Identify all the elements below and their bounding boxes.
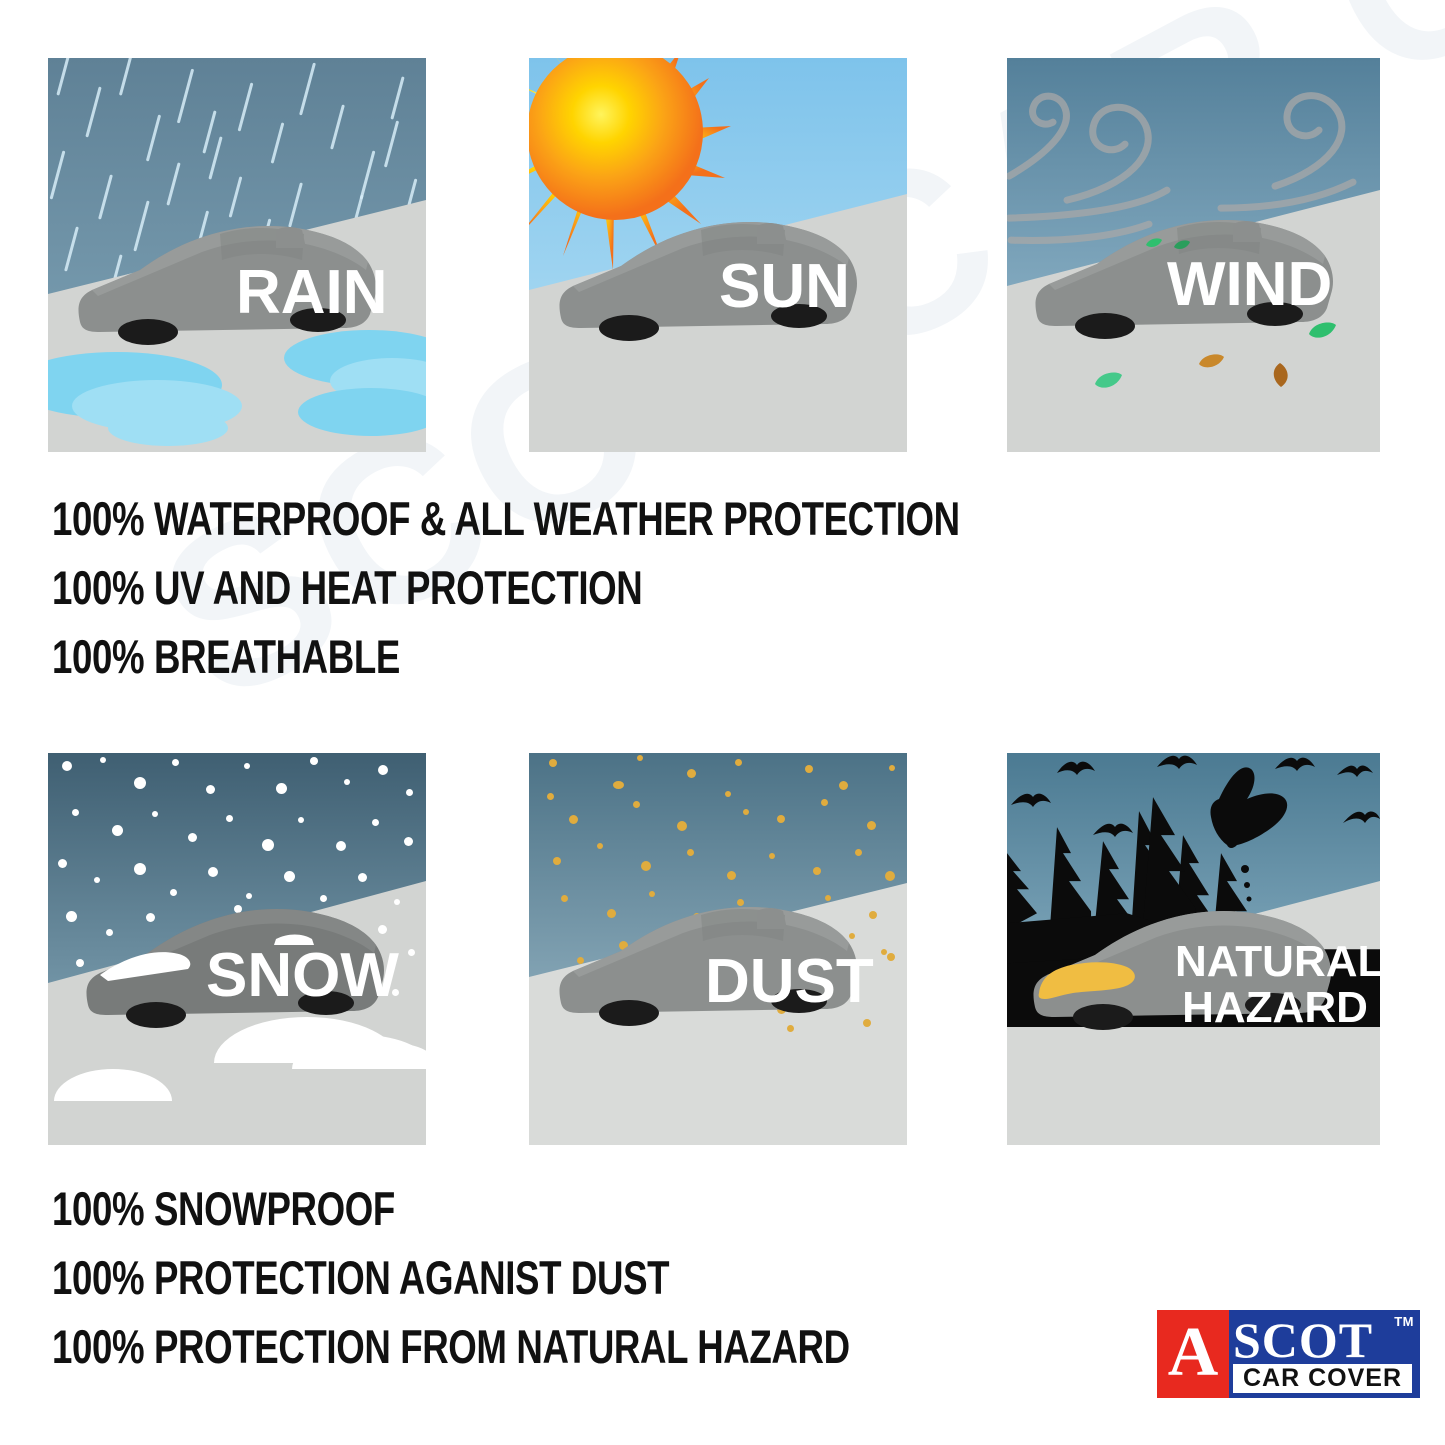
logo-letter: A	[1168, 1318, 1219, 1388]
panel-dust: DUST	[529, 753, 907, 1145]
panel-label-snow: SNOW	[206, 945, 399, 1007]
feature-item: 100% BREATHABLE	[52, 633, 960, 680]
feature-list-bottom: 100% SNOWPROOF 100% PROTECTION AGANIST D…	[52, 1185, 1075, 1392]
panel-label-rain: RAIN	[236, 262, 388, 324]
panel-label-dust: DUST	[705, 951, 874, 1013]
panel-natural-hazard: NATURAL HAZARD	[1007, 753, 1380, 1145]
logo-tagline-bar: CAR COVER	[1233, 1364, 1412, 1393]
infographic-canvas: SCOT CAR COVER	[0, 0, 1445, 1445]
trademark-symbol: TM	[1394, 1314, 1414, 1329]
panel-snow: SNOW	[48, 753, 426, 1145]
feature-item: 100% PROTECTION AGANIST DUST	[52, 1254, 850, 1301]
feature-item: 100% WATERPROOF & ALL WEATHER PROTECTION	[52, 495, 960, 542]
feature-item: 100% PROTECTION FROM NATURAL HAZARD	[52, 1323, 850, 1370]
panel-rain: RAIN	[48, 58, 426, 452]
panel-label-wind: WIND	[1167, 254, 1332, 316]
feature-list-top: 100% WATERPROOF & ALL WEATHER PROTECTION…	[52, 495, 1216, 702]
panel-label-sun: SUN	[719, 256, 850, 318]
logo-letter-badge: A	[1157, 1310, 1229, 1398]
brand-logo[interactable]: A TM SCOT CAR COVER	[1157, 1310, 1420, 1398]
feature-item: 100% UV AND HEAT PROTECTION	[52, 564, 960, 611]
logo-tagline: CAR COVER	[1243, 1364, 1402, 1392]
logo-wordmark: TM SCOT CAR COVER	[1229, 1310, 1420, 1398]
panel-label-natural-hazard: NATURAL HAZARD	[1175, 939, 1375, 1031]
logo-brand-name: SCOT	[1233, 1317, 1420, 1363]
panel-sun: SUN	[529, 58, 907, 452]
panel-wind: WIND	[1007, 58, 1380, 452]
feature-item: 100% SNOWPROOF	[52, 1185, 850, 1232]
